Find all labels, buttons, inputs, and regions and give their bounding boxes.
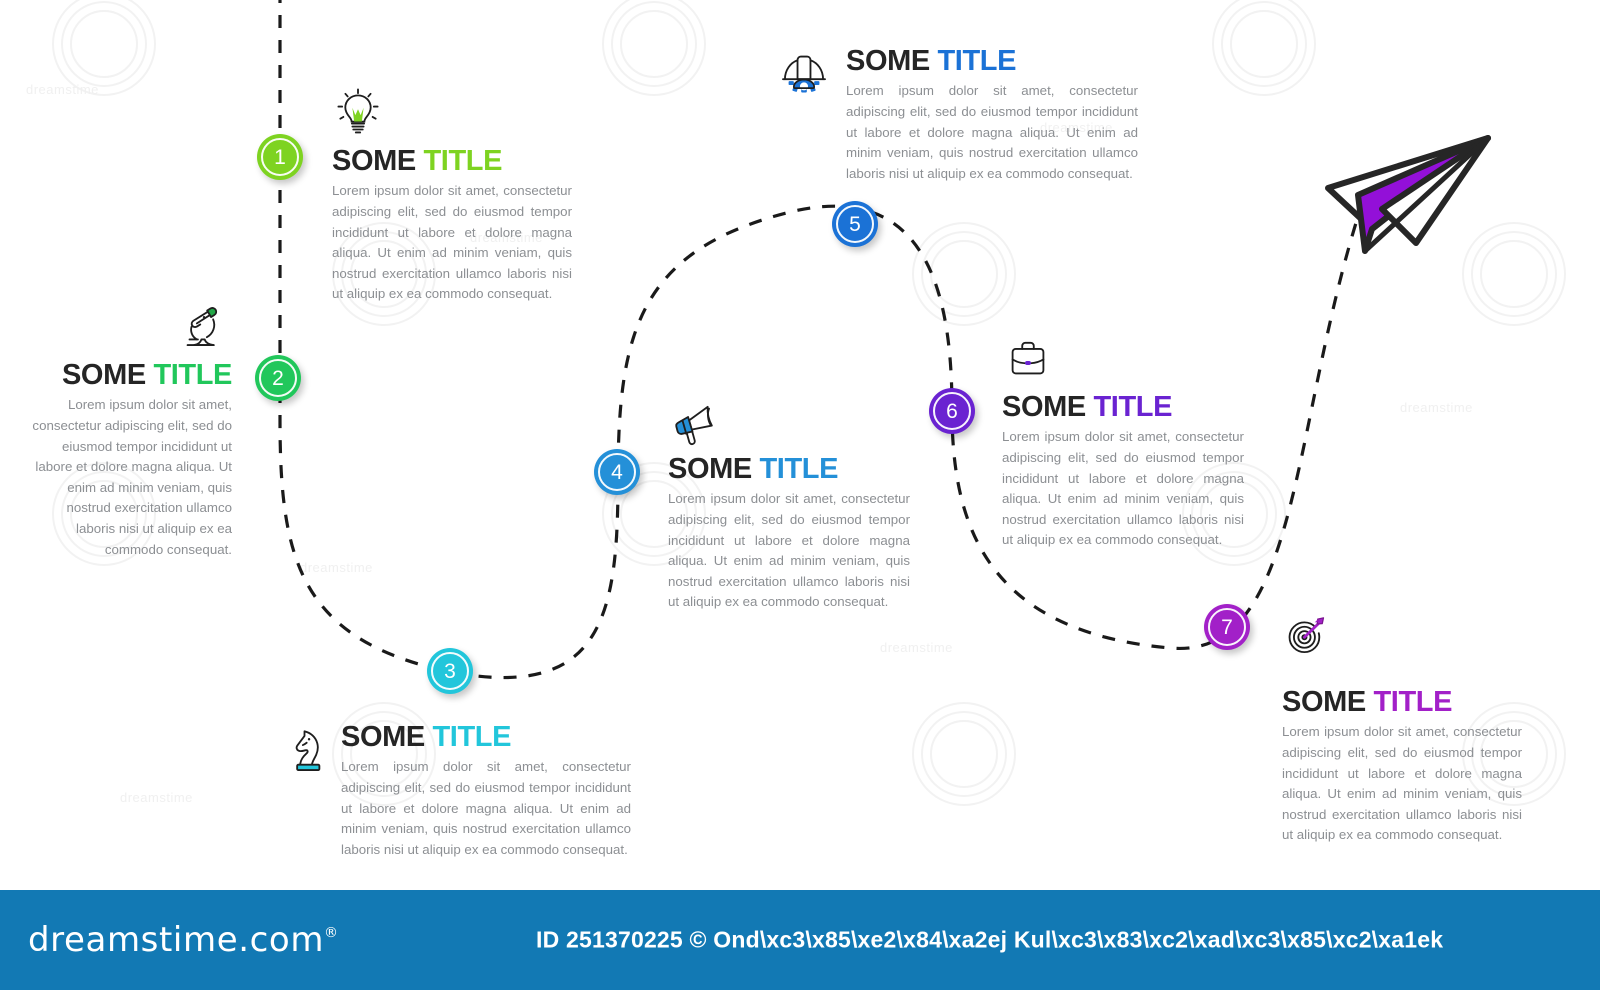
title-dark: SOME <box>1282 686 1366 718</box>
title-dark: SOME <box>332 145 416 177</box>
step-description-7: Lorem ipsum dolor sit amet, consectetur … <box>1282 722 1522 846</box>
title-dark: SOME <box>668 453 752 485</box>
title-accent: TITLE <box>759 453 838 485</box>
megaphone-icon <box>666 396 722 452</box>
step-number: 3 <box>444 661 456 682</box>
title-accent: TITLE <box>1373 686 1452 718</box>
step-title-6: SOME TITLE <box>1002 392 1244 422</box>
watermark-spiral <box>930 720 998 788</box>
watermark-spiral <box>70 10 138 78</box>
step-marker-7[interactable]: 7 <box>1204 604 1250 650</box>
lightbulb-icon <box>330 84 386 140</box>
step-title-1: SOME TITLE <box>332 146 572 176</box>
step-block-2: SOME TITLE Lorem ipsum dolor sit amet, c… <box>30 360 232 560</box>
watermark-text: dreamstime <box>26 82 99 97</box>
brand-text: dreamstime.com <box>28 920 324 960</box>
step-title-5: SOME TITLE <box>846 46 1138 76</box>
registered-icon: ® <box>324 925 339 941</box>
step-marker-5[interactable]: 5 <box>832 201 878 247</box>
step-block-1: SOME TITLE Lorem ipsum dolor sit amet, c… <box>332 146 572 305</box>
title-accent: TITLE <box>423 145 502 177</box>
step-title-7: SOME TITLE <box>1282 687 1522 717</box>
step-description-1: Lorem ipsum dolor sit amet, consectetur … <box>332 181 572 305</box>
watermark-text: dreamstime <box>300 560 373 575</box>
step-block-4: SOME TITLE Lorem ipsum dolor sit amet, c… <box>668 454 910 613</box>
infographic-canvas: dreamstime dreamstime dreamstime dreamst… <box>0 0 1600 990</box>
step-number: 6 <box>946 401 958 422</box>
watermark-text: dreamstime <box>1400 400 1473 415</box>
title-dark: SOME <box>62 359 146 391</box>
step-title-2: SOME TITLE <box>30 360 232 390</box>
dreamstime-logo[interactable]: dreamstime.com® <box>28 920 339 960</box>
title-accent: TITLE <box>937 45 1016 77</box>
step-title-3: SOME TITLE <box>341 722 631 752</box>
step-block-7: SOME TITLE Lorem ipsum dolor sit amet, c… <box>1282 687 1522 846</box>
image-credit: ID 251370225 © Ond\xc3\x85\xe2\x84\xa2ej… <box>536 927 1443 954</box>
microscope-icon <box>172 298 228 354</box>
step-number: 5 <box>849 214 861 235</box>
title-accent: TITLE <box>432 721 511 753</box>
step-number: 4 <box>611 462 623 483</box>
step-number: 1 <box>274 147 286 168</box>
title-dark: SOME <box>341 721 425 753</box>
step-marker-1[interactable]: 1 <box>257 134 303 180</box>
title-dark: SOME <box>1002 391 1086 423</box>
step-description-4: Lorem ipsum dolor sit amet, consectetur … <box>668 489 910 613</box>
title-accent: TITLE <box>1093 391 1172 423</box>
step-block-3: SOME TITLE Lorem ipsum dolor sit amet, c… <box>341 722 631 860</box>
step-title-4: SOME TITLE <box>668 454 910 484</box>
briefcase-icon <box>1000 330 1056 386</box>
footer-bar: dreamstime.com® ID 251370225 © Ond\xc3\x… <box>0 890 1600 990</box>
chess-knight-icon <box>280 723 336 779</box>
step-marker-3[interactable]: 3 <box>427 648 473 694</box>
watermark-spiral <box>930 240 998 308</box>
title-accent: TITLE <box>153 359 232 391</box>
step-description-3: Lorem ipsum dolor sit amet, consectetur … <box>341 757 631 860</box>
step-number: 7 <box>1221 617 1233 638</box>
title-dark: SOME <box>846 45 930 77</box>
watermark-spiral <box>620 10 688 78</box>
target-arrow-icon <box>1278 611 1334 667</box>
step-description-5: Lorem ipsum dolor sit amet, consectetur … <box>846 81 1138 184</box>
step-marker-4[interactable]: 4 <box>594 449 640 495</box>
watermark-spiral <box>1230 10 1298 78</box>
watermark-text: dreamstime <box>120 790 193 805</box>
paper-plane-icon <box>1310 125 1505 260</box>
step-number: 2 <box>272 368 284 389</box>
watermark-text: dreamstime <box>880 640 953 655</box>
step-description-6: Lorem ipsum dolor sit amet, consectetur … <box>1002 427 1244 551</box>
step-block-5: SOME TITLE Lorem ipsum dolor sit amet, c… <box>846 46 1138 184</box>
step-marker-6[interactable]: 6 <box>929 388 975 434</box>
hardhat-gear-icon <box>776 44 832 100</box>
step-marker-2[interactable]: 2 <box>255 355 301 401</box>
step-block-6: SOME TITLE Lorem ipsum dolor sit amet, c… <box>1002 392 1244 551</box>
step-description-2: Lorem ipsum dolor sit amet, consectetur … <box>30 395 232 560</box>
